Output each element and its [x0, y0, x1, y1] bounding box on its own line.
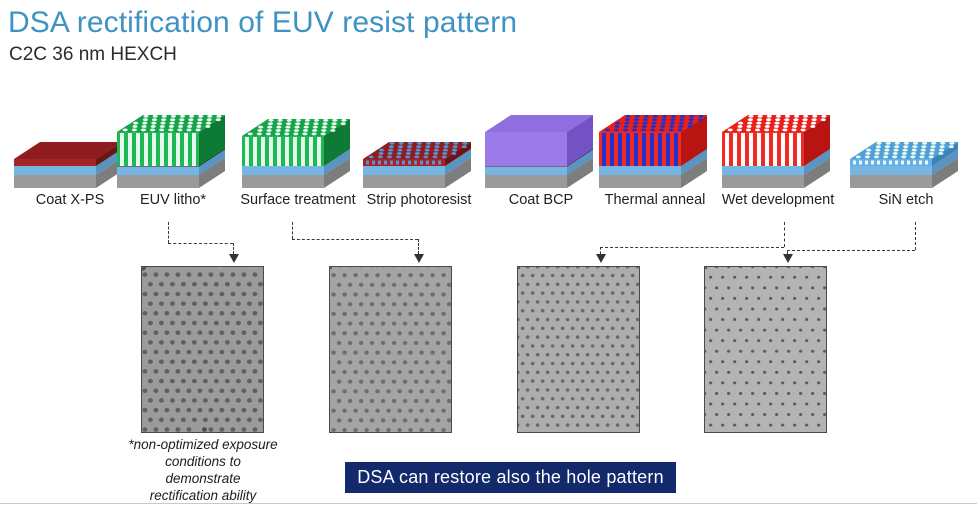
footnote-line-3: rectification ability	[128, 487, 278, 504]
footnote-line-2: conditions to demonstrate	[128, 453, 278, 487]
sem-micrograph-surface	[518, 267, 639, 432]
connector-segment-vertical-end	[233, 243, 234, 254]
connector-segment-vertical-end	[418, 239, 419, 254]
footer-divider	[0, 503, 977, 504]
connector-segment-vertical-start	[784, 222, 785, 247]
connector-segment-vertical-end	[600, 247, 601, 254]
process-step-illustration	[358, 112, 480, 192]
connector-arrowhead-icon	[229, 254, 239, 263]
sem-micrograph-surface	[330, 267, 451, 432]
page-subtitle: C2C 36 nm HEXCH	[9, 44, 177, 66]
process-step-label: Surface treatment	[231, 192, 365, 208]
process-step-6: Thermal anneal	[594, 112, 716, 220]
process-step-5: Coat BCP	[480, 112, 602, 220]
process-step-illustration	[480, 112, 602, 192]
process-step-label: EUV litho*	[106, 192, 240, 208]
sem-sin-etch	[704, 266, 827, 433]
sem-micrograph-surface	[705, 267, 826, 432]
connector-arrowhead-icon	[596, 254, 606, 263]
sem-surface-treatment	[329, 266, 452, 433]
connector-segment-vertical-start	[168, 222, 169, 243]
sem-micrograph-surface	[142, 267, 263, 432]
process-step-label: Wet development	[711, 192, 845, 208]
process-step-8: SiN etch	[845, 112, 967, 220]
process-step-row: Coat X-PSEUV litho*Surface treatmentStri…	[0, 112, 977, 220]
connector-arrowhead-icon	[783, 254, 793, 263]
slide-canvas: DSA rectification of EUV resist pattern …	[0, 0, 977, 508]
process-step-illustration	[845, 112, 967, 192]
sem-thermal-anneal	[517, 266, 640, 433]
page-title: DSA rectification of EUV resist pattern	[8, 6, 517, 40]
process-step-2: EUV litho*	[112, 112, 234, 220]
process-step-label: Strip photoresist	[352, 192, 486, 208]
connector-segment-horizontal	[168, 243, 233, 244]
process-step-3: Surface treatment	[237, 112, 359, 220]
process-step-illustration	[237, 112, 359, 192]
process-step-illustration	[112, 112, 234, 192]
sem-euv-litho	[141, 266, 264, 433]
process-step-label: Thermal anneal	[588, 192, 722, 208]
process-step-illustration	[717, 112, 839, 192]
conclusion-banner-text: DSA can restore also the hole pattern	[357, 467, 664, 488]
process-step-7: Wet development	[717, 112, 839, 220]
connector-segment-vertical-start	[915, 222, 916, 250]
connector-segment-horizontal	[292, 239, 418, 240]
connector-segment-horizontal	[600, 247, 784, 248]
exposure-footnote: *non-optimized exposure conditions to de…	[128, 436, 278, 504]
connector-segment-vertical-start	[292, 222, 293, 239]
process-step-illustration	[594, 112, 716, 192]
process-step-label: SiN etch	[839, 192, 973, 208]
process-step-4: Strip photoresist	[358, 112, 480, 220]
footnote-line-1: *non-optimized exposure	[128, 436, 278, 453]
conclusion-banner: DSA can restore also the hole pattern	[345, 462, 676, 493]
connector-arrowhead-icon	[414, 254, 424, 263]
connector-segment-horizontal	[787, 250, 915, 251]
